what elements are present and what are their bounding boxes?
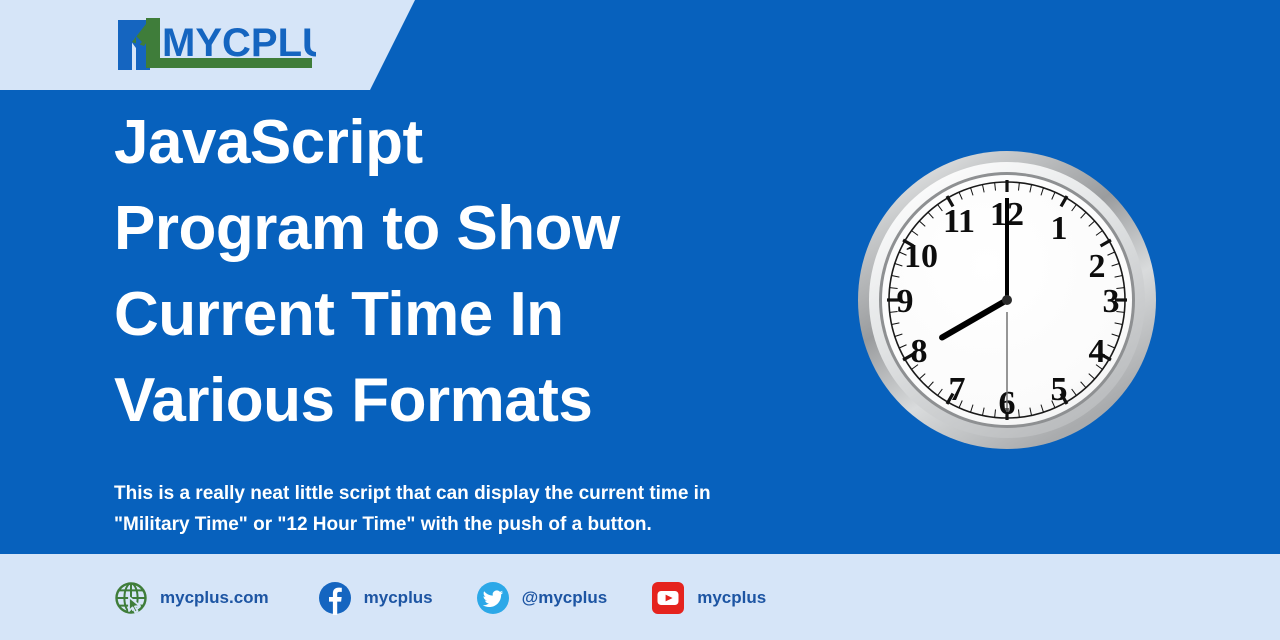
wall-clock-image: 12 1 2 3 4 5 6 7 8 9 10 11 (857, 150, 1157, 450)
clock-center-cap (1002, 295, 1012, 305)
footer-social-links: mycplus.com mycplus @mycplus mycplus (114, 578, 766, 618)
clock-num-11: 11 (943, 203, 975, 240)
footer-label-youtube: mycplus (697, 588, 766, 608)
footer-label-facebook: mycplus (364, 588, 433, 608)
clock-num-5: 5 (1051, 371, 1068, 408)
logo-wordmark: MYCPLUS (162, 21, 316, 65)
footer-label-website: mycplus.com (160, 588, 269, 608)
mycplus-logo[interactable]: MYCPLUS (116, 12, 316, 74)
clock-num-7: 7 (949, 371, 966, 408)
footer-link-facebook[interactable]: mycplus (318, 578, 433, 618)
page-subtitle: This is a really neat little script that… (114, 478, 834, 540)
clock-svg: 12 1 2 3 4 5 6 7 8 9 10 11 (857, 150, 1157, 450)
clock-num-9: 9 (897, 283, 914, 320)
footer-link-twitter[interactable]: @mycplus (476, 578, 608, 618)
youtube-icon (651, 581, 685, 615)
clock-num-8: 8 (911, 333, 928, 370)
logo-svg: MYCPLUS (116, 12, 316, 74)
footer-link-website[interactable]: mycplus.com (114, 578, 269, 618)
footer-link-youtube[interactable]: mycplus (651, 578, 766, 618)
clock-num-2: 2 (1089, 248, 1106, 285)
twitter-icon (476, 581, 510, 615)
globe-icon (114, 581, 148, 615)
clock-num-3: 3 (1103, 283, 1120, 320)
clock-num-1: 1 (1051, 210, 1068, 247)
clock-num-4: 4 (1089, 333, 1106, 370)
footer-label-twitter: @mycplus (522, 588, 608, 608)
page-title: JavaScript Program to Show Current Time … (114, 100, 814, 444)
clock-num-10: 10 (904, 238, 938, 275)
facebook-icon (318, 581, 352, 615)
